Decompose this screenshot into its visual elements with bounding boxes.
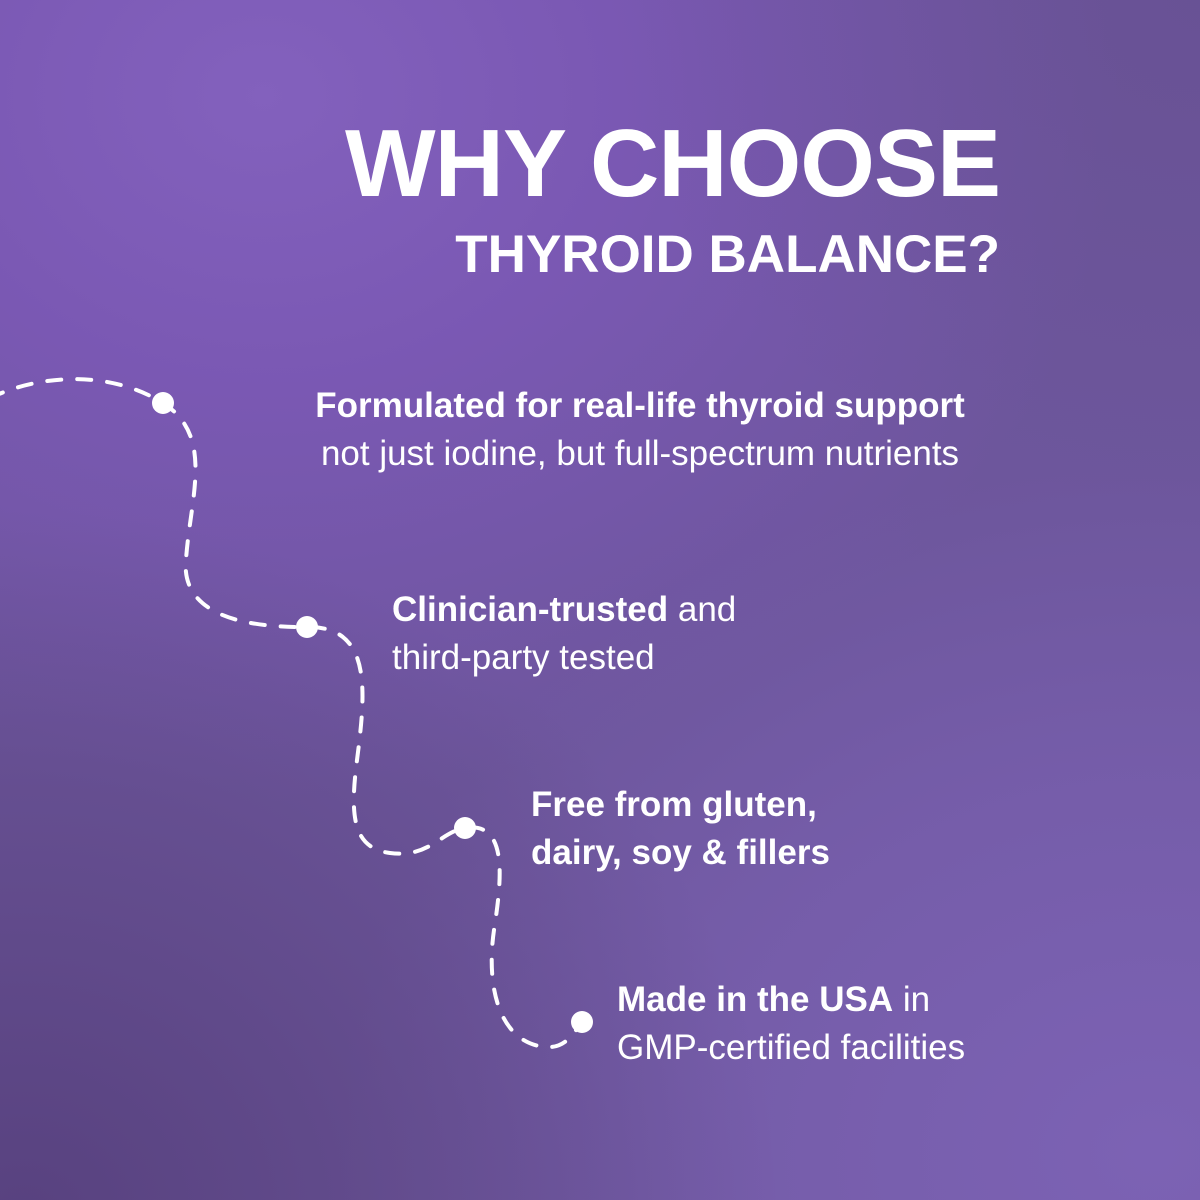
benefit-item-4-line-2-rest: GMP-certified facilities <box>617 1028 965 1067</box>
benefit-item-1-line-1: Formulated for real-life thyroid support <box>140 382 1140 430</box>
benefit-item-1-line-2-rest: not just iodine, but full-spectrum nutri… <box>321 434 959 473</box>
benefit-item-3-line-2-emphasis: dairy, soy & fillers <box>531 833 830 872</box>
benefit-item-2-line-1-emphasis: Clinician-trusted <box>392 590 668 629</box>
benefit-item-2-line-2-rest: third-party tested <box>392 638 655 677</box>
bullet-dot-3 <box>454 817 476 839</box>
headline-line-primary: WHY CHOOSE <box>0 116 1000 212</box>
benefit-item-3: Free from gluten, dairy, soy & fillers <box>531 781 830 877</box>
benefit-item-1: Formulated for real-life thyroid support… <box>140 382 1140 478</box>
benefit-item-4: Made in the USA in GMP-certified facilit… <box>617 976 965 1072</box>
benefit-item-2-line-1-rest: and <box>668 590 736 629</box>
benefit-item-4-line-1: Made in the USA in <box>617 976 965 1024</box>
benefit-item-4-line-1-rest: in <box>893 980 930 1019</box>
benefit-item-2: Clinician-trusted and third-party tested <box>392 586 736 682</box>
benefit-item-1-line-1-emphasis: Formulated for real-life thyroid support <box>315 386 964 425</box>
page-title: WHY CHOOSE THYROID BALANCE? <box>0 116 1000 281</box>
benefit-item-4-line-2: GMP-certified facilities <box>617 1024 965 1072</box>
headline-line-secondary: THYROID BALANCE? <box>0 228 1000 281</box>
promo-graphic: WHY CHOOSE THYROID BALANCE? Formulated f… <box>0 0 1200 1200</box>
benefit-item-2-line-2: third-party tested <box>392 634 736 682</box>
benefit-item-2-line-1: Clinician-trusted and <box>392 586 736 634</box>
benefit-item-3-line-1-emphasis: Free from gluten, <box>531 785 817 824</box>
benefit-item-3-line-2: dairy, soy & fillers <box>531 829 830 877</box>
bullet-dot-2 <box>296 616 318 638</box>
benefit-item-1-line-2: not just iodine, but full-spectrum nutri… <box>140 430 1140 478</box>
benefit-item-3-line-1: Free from gluten, <box>531 781 830 829</box>
bullet-dot-4 <box>571 1011 593 1033</box>
benefit-item-4-line-1-emphasis: Made in the USA <box>617 980 893 1019</box>
